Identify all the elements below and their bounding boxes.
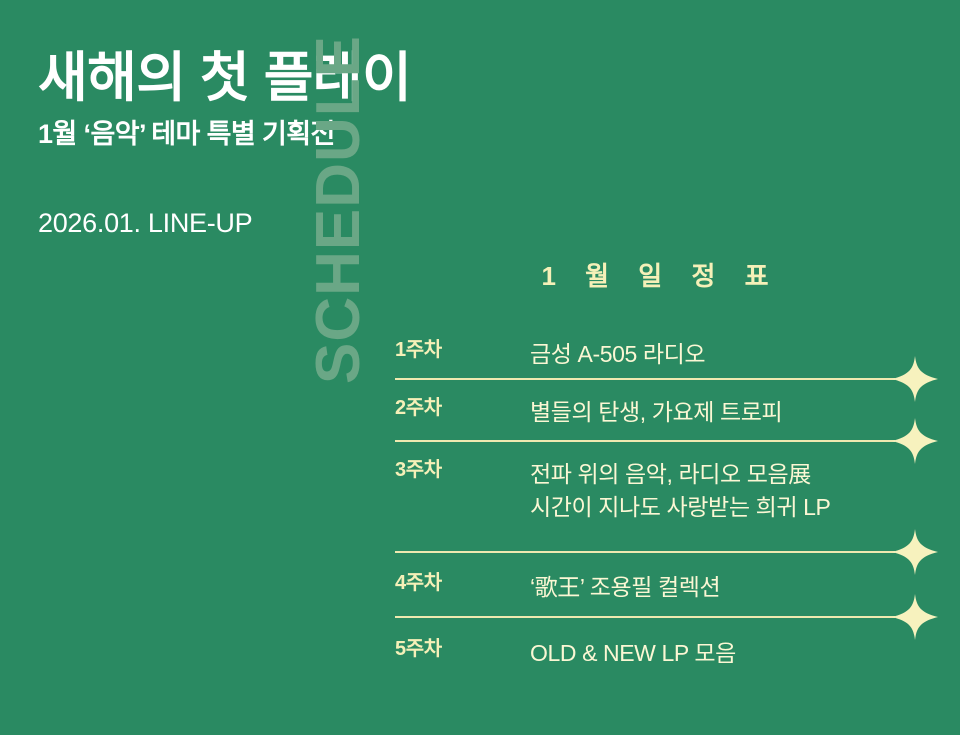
lineup-label: 2026.01. LINE-UP xyxy=(38,208,252,239)
week-description: 금성 A-505 라디오 xyxy=(530,338,915,371)
table-row: 1주차 금성 A-505 라디오 xyxy=(395,332,915,380)
week-label: 3주차 xyxy=(395,458,530,483)
page-title: 새해의 첫 플레이 xyxy=(38,48,638,108)
week-label: 1주차 xyxy=(395,338,530,363)
week-description: ‘歌王’ 조용필 컬렉션 xyxy=(530,571,915,604)
schedule-heading: 1 월 일 정 표 xyxy=(455,256,855,293)
week-label: 2주차 xyxy=(395,396,530,421)
schedule-table: 1주차 금성 A-505 라디오 2주차 별들의 탄생, 가요제 트로피 xyxy=(395,332,915,678)
table-row: 5주차 OLD & NEW LP 모음 xyxy=(395,618,915,678)
week-description: 전파 위의 음악, 라디오 모음展 시간이 지나도 사랑받는 희귀 LP xyxy=(530,458,915,523)
table-row: 3주차 전파 위의 음악, 라디오 모음展 시간이 지나도 사랑받는 희귀 LP xyxy=(395,442,915,553)
description-line: 시간이 지나도 사랑받는 희귀 LP xyxy=(530,491,915,524)
poster-canvas: 새해의 첫 플레이 1월 ‘음악’ 테마 특별 기획전 2026.01. LIN… xyxy=(0,0,960,735)
header-block: 새해의 첫 플레이 1월 ‘음악’ 테마 특별 기획전 xyxy=(38,48,638,151)
week-description: 별들의 탄생, 가요제 트로피 xyxy=(530,396,915,429)
description-line: 전파 위의 음악, 라디오 모음展 xyxy=(530,458,915,491)
page-subtitle: 1월 ‘음악’ 테마 특별 기획전 xyxy=(38,118,638,150)
week-label: 4주차 xyxy=(395,571,530,596)
table-row: 4주차 ‘歌王’ 조용필 컬렉션 xyxy=(395,553,915,618)
week-description: OLD & NEW LP 모음 xyxy=(530,637,915,670)
description-line: 금성 A-505 라디오 xyxy=(530,338,915,371)
table-row: 2주차 별들의 탄생, 가요제 트로피 xyxy=(395,380,915,442)
week-label: 5주차 xyxy=(395,637,530,662)
description-line: 별들의 탄생, 가요제 트로피 xyxy=(530,396,915,429)
description-line: ‘歌王’ 조용필 컬렉션 xyxy=(530,571,915,604)
description-line: OLD & NEW LP 모음 xyxy=(530,637,915,670)
